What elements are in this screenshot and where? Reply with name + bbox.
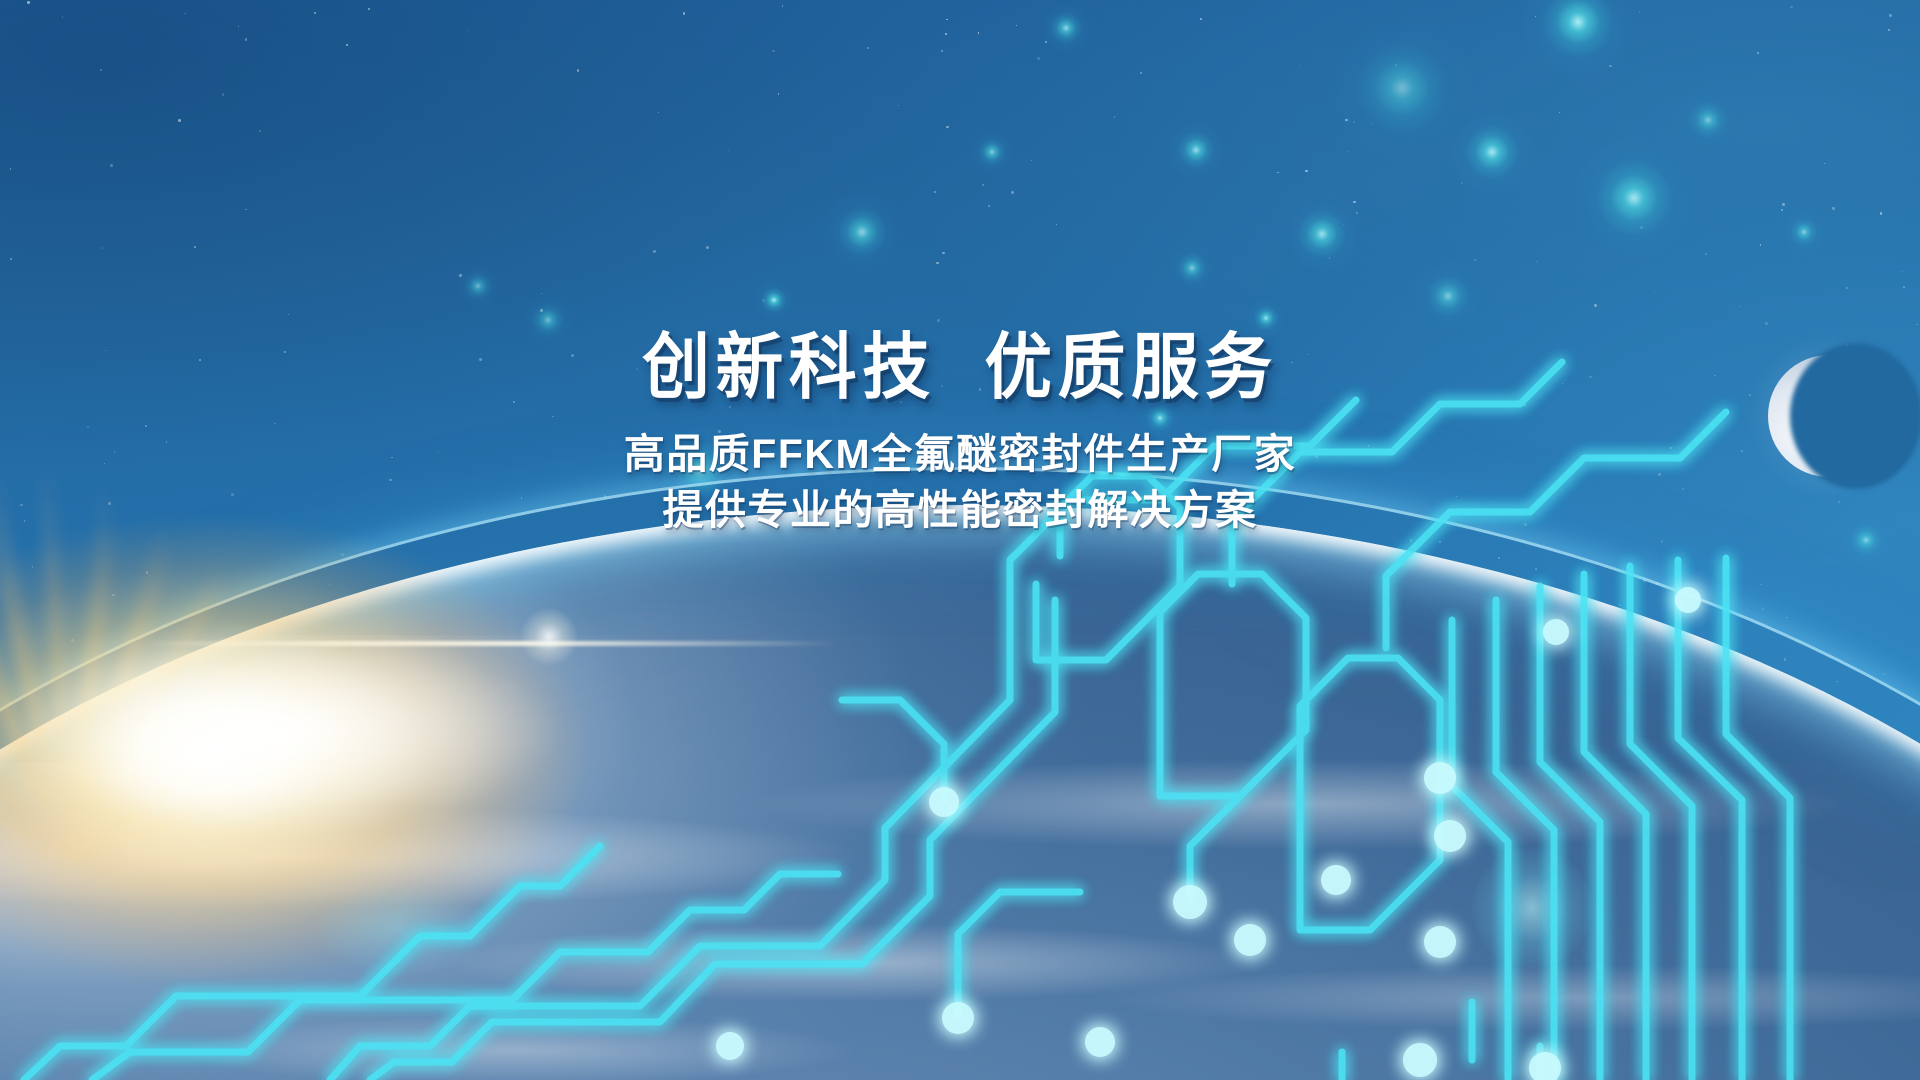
star-dot (1888, 29, 1890, 31)
star-dot (1037, 57, 1040, 60)
star-dot (946, 19, 948, 21)
banner-root: 创新科技 优质服务 高品质FFKM全氟醚密封件生产厂家 提供专业的高性能密封解决… (0, 0, 1920, 1080)
glow-orb (1166, 120, 1226, 180)
star-dot (945, 33, 947, 35)
star-dot (1765, 322, 1768, 325)
star-dot (658, 112, 659, 113)
star-dot (1790, 6, 1793, 9)
star-dot (782, 5, 783, 6)
star-dot (27, 1, 30, 4)
star-dot (653, 250, 656, 253)
glow-orb (1168, 244, 1216, 292)
star-dot (934, 191, 936, 193)
star-dot (1846, 287, 1848, 289)
star-dot (982, 184, 984, 186)
star-dot (1705, 253, 1707, 255)
star-dot (1011, 191, 1014, 194)
star-dot (1824, 163, 1825, 164)
star-dot (1114, 116, 1116, 118)
star-dot (245, 209, 246, 210)
glow-orb (822, 192, 902, 272)
star-dot (1832, 207, 1834, 209)
glow-orb (1572, 136, 1696, 260)
subtitle-line-1: 高品质FFKM全氟醚密封件生产厂家 (0, 426, 1920, 483)
subtitle-line-2: 提供专业的高性能密封解决方案 (0, 482, 1920, 539)
star-dot (1760, 244, 1762, 246)
star-dot (936, 262, 938, 264)
star-dot (1056, 224, 1057, 225)
glow-orb (1040, 2, 1092, 54)
star-dot (1016, 25, 1017, 26)
star-dot (178, 119, 181, 122)
star-dot (577, 69, 579, 71)
star-dot (468, 30, 469, 31)
star-dot (1639, 12, 1640, 13)
star-dot (368, 8, 370, 10)
star-dot (314, 12, 316, 14)
star-dot (683, 12, 686, 15)
star-dot (10, 168, 12, 170)
glow-orb (1678, 90, 1738, 150)
star-dot (1880, 212, 1882, 214)
star-dot (778, 93, 780, 95)
star-dot (184, 13, 186, 15)
star-dot (10, 258, 11, 259)
banner-copy: 创新科技 优质服务 高品质FFKM全氟醚密封件生产厂家 提供专业的高性能密封解决… (0, 330, 1920, 539)
star-dot (62, 16, 63, 17)
glow-orb (1282, 194, 1362, 274)
star-dot (937, 319, 940, 322)
star-dot (1536, 261, 1538, 263)
glow-orb (970, 130, 1014, 174)
star-dot (1654, 291, 1655, 292)
glow-orb (754, 280, 794, 320)
star-dot (238, 26, 239, 27)
star-dot (1277, 172, 1279, 174)
banner-subtitle: 高品质FFKM全氟醚密封件生产厂家 提供专业的高性能密封解决方案 (0, 426, 1920, 539)
star-dot (1348, 151, 1349, 152)
star-dot (1902, 271, 1903, 272)
star-dot (1559, 112, 1560, 113)
star-dot (110, 164, 113, 167)
star-dot (245, 38, 248, 41)
star-dot (346, 44, 347, 45)
star-dot (941, 50, 943, 52)
glow-orb (1448, 108, 1536, 196)
star-dot (222, 93, 224, 95)
star-dot (101, 247, 103, 249)
star-dot (706, 246, 709, 249)
star-dot (978, 32, 980, 34)
star-dot (728, 150, 730, 152)
star-dot (194, 246, 196, 248)
star-dot (1916, 324, 1918, 326)
page-title: 创新科技 优质服务 (58, 330, 1863, 408)
star-dot (1305, 170, 1308, 173)
star-dot (1903, 286, 1905, 288)
star-dot (772, 50, 775, 53)
sunrise-hotspot (0, 600, 640, 860)
star-dot (988, 205, 989, 206)
lens-streak (140, 641, 840, 646)
glow-orb (456, 264, 500, 308)
glow-orb (1782, 210, 1826, 254)
star-dot (288, 314, 289, 315)
star-dot (1782, 203, 1785, 206)
star-dot (898, 105, 899, 106)
star-dot (190, 156, 191, 157)
star-dot (259, 130, 262, 133)
star-dot (1739, 306, 1740, 307)
star-dot (100, 69, 102, 71)
star-dot (1757, 52, 1759, 54)
star-dot (942, 252, 945, 255)
star-dot (1594, 304, 1597, 307)
glow-orb (1414, 262, 1482, 330)
star-dot (1353, 201, 1356, 204)
star-dot (1474, 259, 1476, 261)
star-dot (1031, 160, 1032, 161)
star-dot (1781, 209, 1784, 212)
star-dot (1090, 65, 1091, 66)
star-dot (946, 126, 949, 129)
star-dot (1200, 18, 1202, 20)
star-dot (1140, 72, 1142, 74)
star-dot (1299, 65, 1301, 67)
star-dot (1889, 14, 1892, 17)
star-dot (867, 47, 870, 50)
